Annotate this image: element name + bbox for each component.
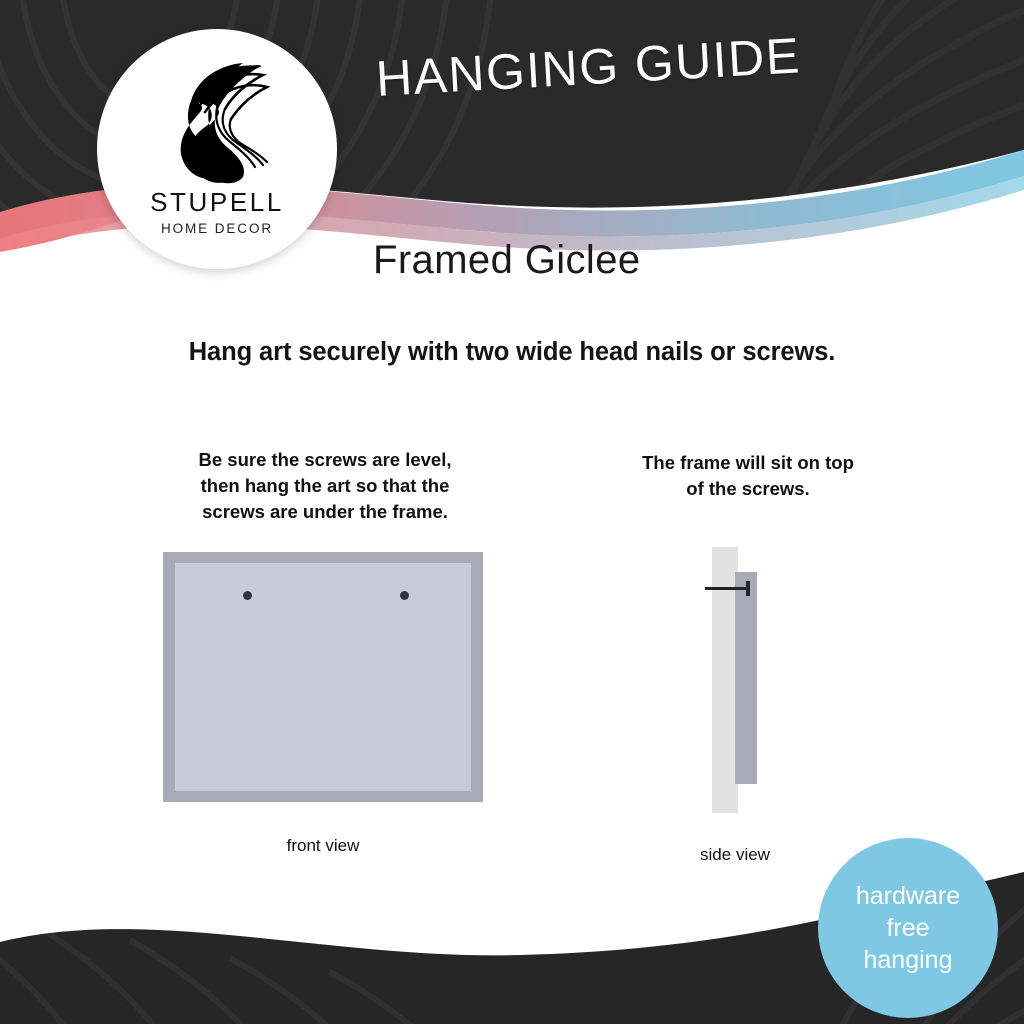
logo-subwordmark: HOME DECOR: [161, 222, 273, 236]
hanging-guide-page: STUPELL HOME DECOR HANGING GUIDE Framed …: [0, 0, 1024, 1024]
side-view-caption: The frame will sit on top of the screws.: [598, 450, 898, 502]
badge-line-2: free: [886, 912, 929, 944]
logo-wordmark: STUPELL: [150, 189, 284, 215]
front-view-label: front view: [163, 836, 483, 856]
front-view-frame-diagram: [163, 552, 483, 802]
side-view-caption-line-1: The frame will sit on top: [598, 450, 898, 476]
side-view-screw-head-icon: [746, 581, 750, 596]
screw-dot-left-icon: [243, 591, 252, 600]
badge-line-3: hanging: [864, 944, 953, 976]
main-instruction-text: Hang art securely with two wide head nai…: [0, 338, 1024, 367]
front-view-caption-line-2: then hang the art so that the: [155, 473, 495, 499]
stupell-swoosh-icon: [157, 57, 277, 185]
hardware-free-hanging-badge: hardware free hanging: [818, 838, 998, 1018]
page-title: HANGING GUIDE: [374, 22, 876, 108]
side-view-diagram: [700, 547, 770, 813]
side-view-frame: [735, 572, 757, 784]
side-view-label: side view: [655, 845, 815, 865]
front-view-caption-line-3: screws are under the frame.: [155, 499, 495, 525]
logo-badge: STUPELL HOME DECOR: [97, 29, 337, 269]
front-view-caption: Be sure the screws are level, then hang …: [155, 447, 495, 525]
front-view-frame-inner: [175, 563, 471, 791]
screw-dot-right-icon: [400, 591, 409, 600]
side-view-caption-line-2: of the screws.: [598, 476, 898, 502]
side-view-screw-shaft-icon: [705, 587, 749, 590]
front-view-caption-line-1: Be sure the screws are level,: [155, 447, 495, 473]
product-type-heading: Framed Giclee: [373, 238, 641, 283]
badge-line-1: hardware: [856, 880, 960, 912]
